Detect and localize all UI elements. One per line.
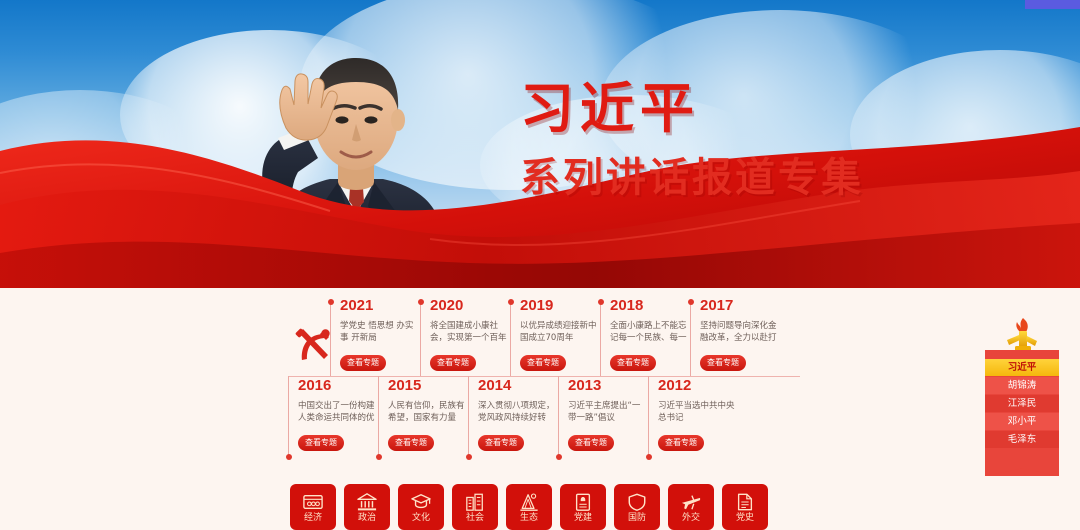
category-label: 文化	[412, 514, 430, 523]
hero-title-sub: 系列讲话报道专集	[520, 158, 864, 198]
hero-title-main: 习近平	[520, 82, 864, 136]
timeline-dot	[688, 299, 694, 305]
timeline-stem	[378, 376, 379, 456]
timeline-desc: 全面小康路上不能忘记每一个民族、每一个家庭	[610, 320, 690, 345]
timeline-item-2015[interactable]: 2015 人民有信仰，民族有希望，国家有力量 查看专题	[378, 378, 468, 451]
timeline-item-2013[interactable]: 2013 习近平主席提出“一带一路”倡议 查看专题	[558, 378, 648, 451]
timeline-item-2020[interactable]: 2020 将全国建成小康社会，实现第一个百年奋斗目标 查看专题	[420, 298, 510, 371]
document-icon	[734, 492, 756, 512]
timeline-year: 2021	[340, 298, 420, 313]
timeline-row-top: 2021 学党史 悟思想 办实事 开新局 查看专题 2020 将全国建成小康社会…	[330, 298, 780, 371]
timeline-year: 2019	[520, 298, 600, 313]
timeline-dot	[646, 454, 652, 460]
timeline-year: 2017	[700, 298, 780, 313]
view-topic-button[interactable]: 查看专题	[388, 435, 434, 451]
timeline-desc: 坚持问题导向深化金融改革，全力以赴打好国防和...	[700, 320, 780, 345]
category-label: 外交	[682, 514, 700, 523]
timeline-dot	[508, 299, 514, 305]
timeline-item-2017[interactable]: 2017 坚持问题导向深化金融改革，全力以赴打好国防和... 查看专题	[690, 298, 780, 371]
category-tile-economy[interactable]: 经济	[290, 484, 336, 530]
shield-icon	[626, 492, 648, 512]
timeline-item-2012[interactable]: 2012 习近平当选中共中央总书记 查看专题	[648, 378, 738, 451]
timeline-stem	[690, 302, 691, 376]
category-label: 生态	[520, 514, 538, 523]
view-topic-button[interactable]: 查看专题	[298, 435, 344, 451]
ribbon-item-jiang-zemin[interactable]: 江泽民	[985, 395, 1059, 412]
timeline-dot	[598, 299, 604, 305]
category-tile-culture[interactable]: 文化	[398, 484, 444, 530]
government-building-icon	[356, 492, 378, 512]
timeline-item-2014[interactable]: 2014 深入贯彻八项规定，党风政风持续好转 查看专题	[468, 378, 558, 451]
timeline-item-2018[interactable]: 2018 全面小康路上不能忘记每一个民族、每一个家庭 查看专题	[600, 298, 690, 371]
category-label: 社会	[466, 514, 484, 523]
category-tile-party-history[interactable]: 党史	[722, 484, 768, 530]
timeline-year: 2016	[298, 378, 378, 393]
timeline-stem	[468, 376, 469, 456]
timeline-stem	[330, 302, 331, 376]
category-label: 经济	[304, 514, 322, 523]
category-label: 政治	[358, 514, 376, 523]
view-topic-button[interactable]: 查看专题	[340, 355, 386, 371]
hero-banner: 习近平 系列讲话报道专集	[0, 0, 1080, 288]
timeline-year: 2020	[430, 298, 510, 313]
timeline-dot	[466, 454, 472, 460]
book-icon	[572, 492, 594, 512]
timeline-desc: 以优异成绩迎接新中国成立70周年	[520, 320, 600, 345]
category-label: 国防	[628, 514, 646, 523]
view-topic-button[interactable]: 查看专题	[520, 355, 566, 371]
timeline-desc: 深入贯彻八项规定，党风政风持续好转	[478, 400, 558, 425]
timeline-year: 2012	[658, 378, 738, 393]
timeline-stem	[510, 302, 511, 376]
timeline-desc: 习近平当选中共中央总书记	[658, 400, 738, 425]
timeline-desc: 学党史 悟思想 办实事 开新局	[340, 320, 420, 345]
timeline-desc: 中国交出了一份构建人类命运共同体的优异成绩单	[298, 400, 378, 425]
timeline-stem	[558, 376, 559, 456]
timeline-desc: 习近平主席提出“一带一路”倡议	[568, 400, 648, 425]
category-tile-ecology[interactable]: 生态	[506, 484, 552, 530]
category-label: 党建	[574, 514, 592, 523]
view-topic-button[interactable]: 查看专题	[568, 435, 614, 451]
timeline-stem	[288, 376, 289, 456]
timeline-stem	[420, 302, 421, 376]
timeline-item-2016[interactable]: 2016 中国交出了一份构建人类命运共同体的优异成绩单 查看专题	[288, 378, 378, 451]
ribbon-body: 习近平 胡锦涛 江泽民 邓小平 毛泽东	[985, 350, 1059, 476]
category-tile-politics[interactable]: 政治	[344, 484, 390, 530]
bank-note-icon	[302, 492, 324, 512]
category-label: 党史	[736, 514, 754, 523]
ribbon-item-deng-xiaoping[interactable]: 邓小平	[985, 413, 1059, 430]
timeline: 2021 学党史 悟思想 办实事 开新局 查看专题 2020 将全国建成小康社会…	[288, 298, 800, 463]
category-tile-defense[interactable]: 国防	[614, 484, 660, 530]
ribbon-tail	[985, 458, 1059, 476]
graduation-cap-icon	[410, 492, 432, 512]
ribbon-item-hu-jintao[interactable]: 胡锦涛	[985, 377, 1059, 394]
timeline-row-bottom: 2016 中国交出了一份构建人类命运共同体的优异成绩单 查看专题 2015 人民…	[288, 378, 738, 451]
timeline-dot	[418, 299, 424, 305]
category-tile-diplomacy[interactable]: 外交	[668, 484, 714, 530]
view-topic-button[interactable]: 查看专题	[610, 355, 656, 371]
ribbon-item-mao-zedong[interactable]: 毛泽东	[985, 431, 1059, 448]
timeline-item-2021[interactable]: 2021 学党史 悟思想 办实事 开新局 查看专题	[330, 298, 420, 371]
timeline-dot	[328, 299, 334, 305]
timeline-item-2019[interactable]: 2019 以优异成绩迎接新中国成立70周年 查看专题	[510, 298, 600, 371]
timeline-dot	[286, 454, 292, 460]
view-topic-button[interactable]: 查看专题	[700, 355, 746, 371]
timeline-year: 2018	[610, 298, 690, 313]
view-topic-button[interactable]: 查看专题	[478, 435, 524, 451]
hero-title-block: 习近平 系列讲话报道专集	[520, 82, 864, 198]
timeline-year: 2015	[388, 378, 468, 393]
view-topic-button[interactable]: 查看专题	[658, 435, 704, 451]
timeline-desc: 将全国建成小康社会，实现第一个百年奋斗目标	[430, 320, 510, 345]
timeline-dot	[376, 454, 382, 460]
airplane-icon	[680, 492, 702, 512]
category-tile-party-building[interactable]: 党建	[560, 484, 606, 530]
category-tile-society[interactable]: 社会	[452, 484, 498, 530]
timeline-stem	[648, 376, 649, 456]
timeline-axis	[288, 376, 800, 377]
ribbon-item-xi-jinping[interactable]: 习近平	[985, 359, 1059, 376]
tree-nature-icon	[518, 492, 540, 512]
city-buildings-icon	[464, 492, 486, 512]
top-purple-tab[interactable]	[1025, 0, 1080, 9]
timeline-dot	[556, 454, 562, 460]
timeline-desc: 人民有信仰，民族有希望，国家有力量	[388, 400, 468, 425]
content-area: 2021 学党史 悟思想 办实事 开新局 查看专题 2020 将全国建成小康社会…	[0, 288, 1080, 530]
timeline-year: 2013	[568, 378, 648, 393]
category-tiles: 经济 政治 文化	[290, 484, 768, 530]
view-topic-button[interactable]: 查看专题	[430, 355, 476, 371]
timeline-stem	[600, 302, 601, 376]
timeline-year: 2014	[478, 378, 558, 393]
